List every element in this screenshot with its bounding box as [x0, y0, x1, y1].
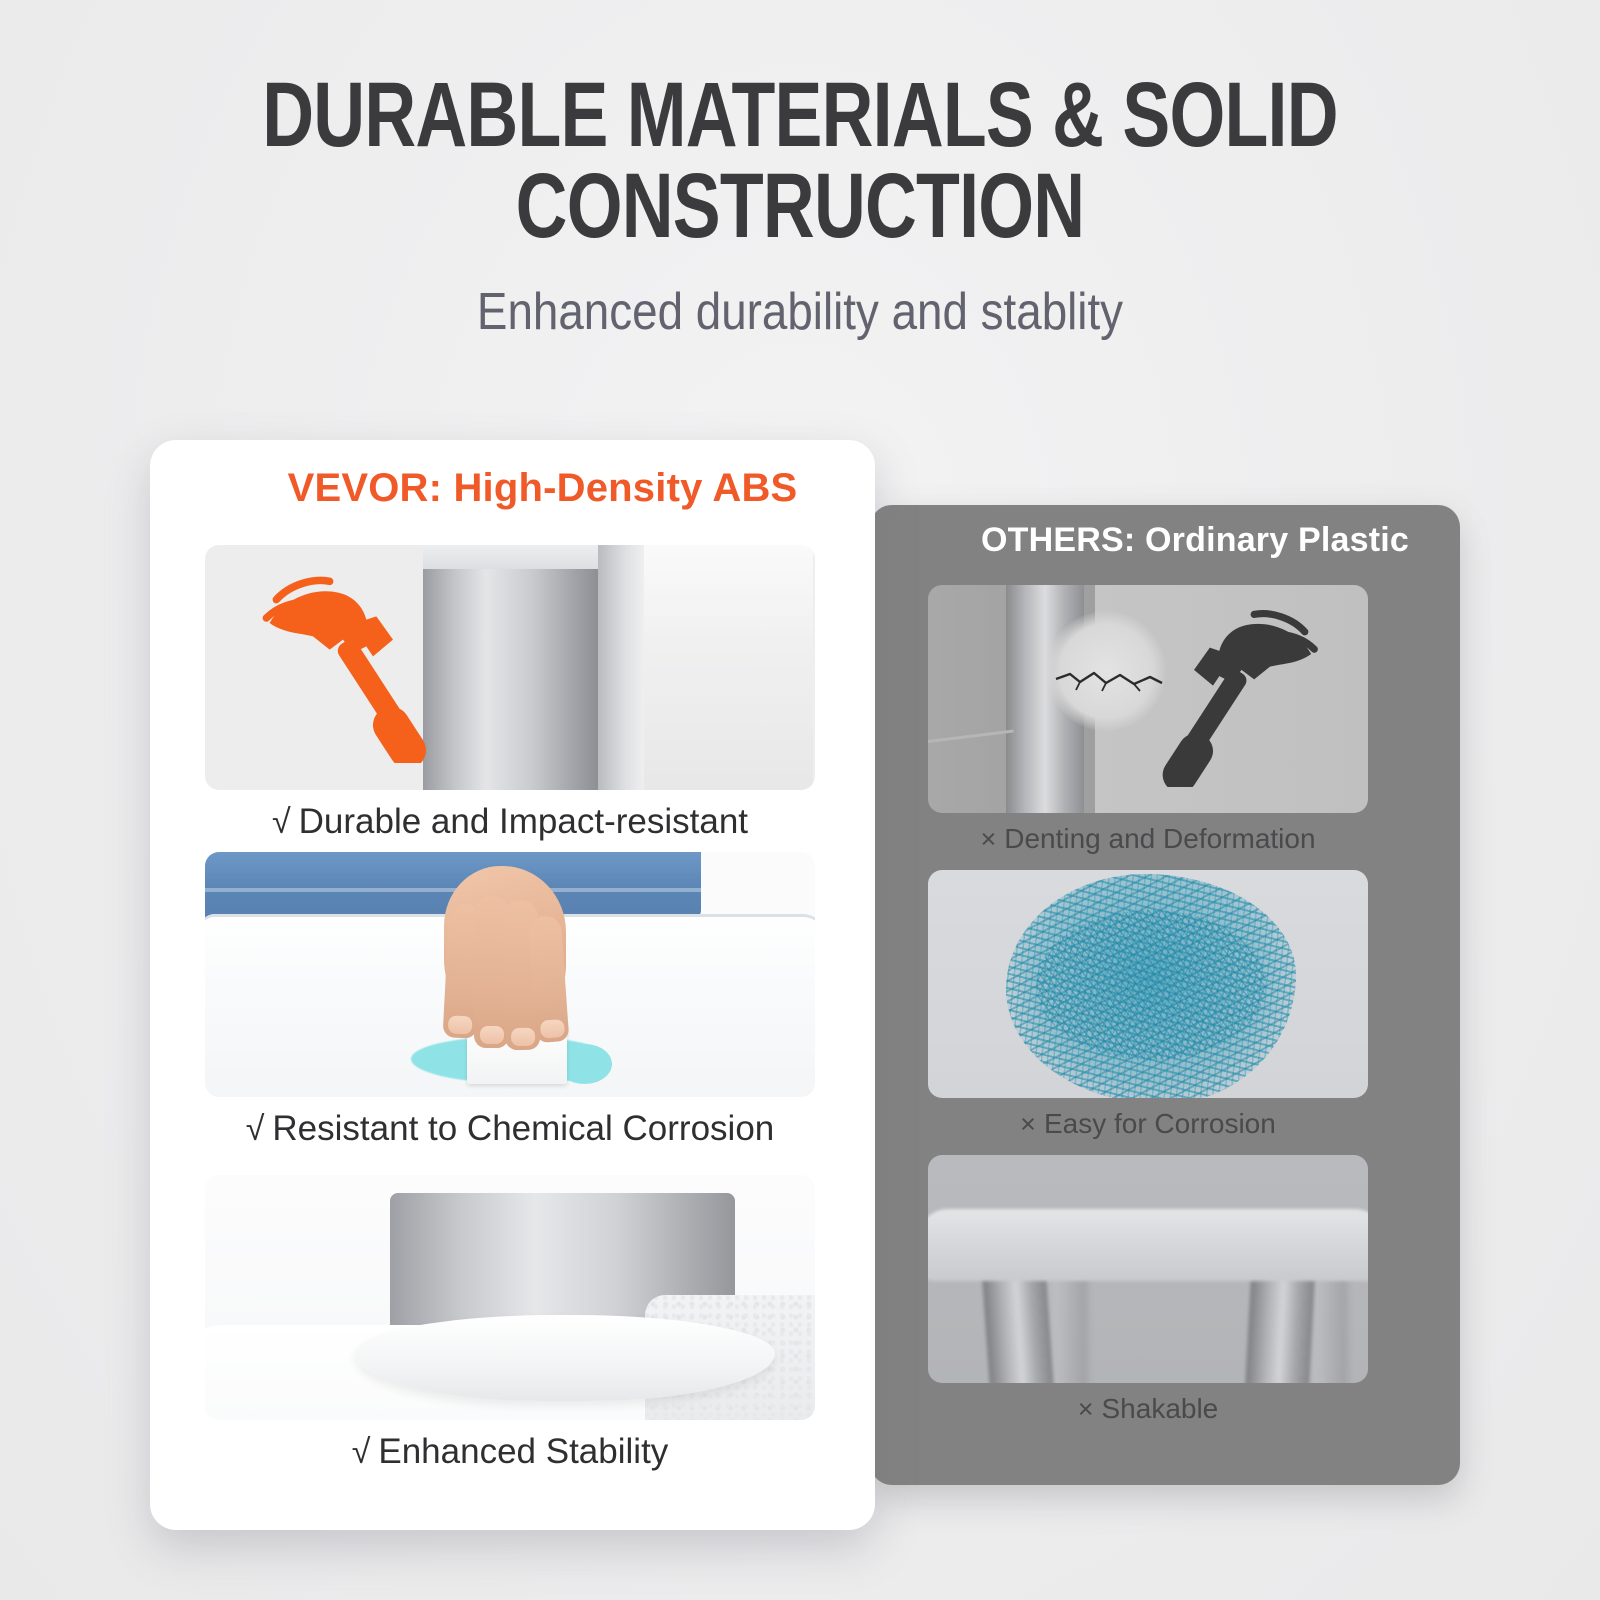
check-mark: √: [272, 803, 291, 841]
stand-top-shape: [928, 1209, 1368, 1281]
vevor-card: VEVOR: High-Density ABS: [150, 440, 875, 1530]
comparison-cards: OTHERS: Ordinary Plastic: [0, 0, 1600, 1600]
hand-wipe-icon: [205, 852, 815, 1097]
product-post-shape: [423, 545, 598, 790]
others-item-corrosion: ×Easy for Corrosion: [928, 870, 1368, 1140]
product-post-top-shape: [423, 545, 598, 569]
vevor-caption-text: Resistant to Chemical Corrosion: [272, 1109, 774, 1148]
leg-collar-shape: [355, 1315, 775, 1401]
check-mark: √: [352, 1433, 371, 1471]
others-caption-corrosion: ×Easy for Corrosion: [928, 1108, 1368, 1140]
vevor-item-impact: √Durable and Impact-resistant: [205, 545, 815, 842]
vevor-caption-impact: √Durable and Impact-resistant: [205, 802, 815, 842]
leg-base-icon: [205, 1175, 815, 1420]
vevor-caption-stability: √Enhanced Stability: [205, 1432, 815, 1472]
stand-leg-left: [982, 1273, 1054, 1383]
others-caption-denting: ×Denting and Deformation: [928, 823, 1368, 855]
others-caption-text: Denting and Deformation: [1004, 823, 1315, 854]
hammer-icon-photo: [205, 545, 815, 790]
fingernail-shape: [511, 1028, 535, 1046]
others-caption-text: Shakable: [1102, 1393, 1219, 1424]
others-card: OTHERS: Ordinary Plastic: [870, 505, 1460, 1485]
vevor-item-chemical: √Resistant to Chemical Corrosion: [205, 852, 815, 1149]
fingernail-shape: [480, 1026, 504, 1044]
corrosion-stain-icon: [928, 870, 1368, 1098]
others-caption-shakable: ×Shakable: [928, 1393, 1368, 1425]
vevor-card-heading: VEVOR: High-Density ABS: [150, 466, 875, 511]
infographic-page: DURABLE MATERIALS & SOLID CONSTRUCTION E…: [0, 0, 1600, 1600]
others-card-heading: OTHERS: Ordinary Plastic: [870, 521, 1460, 560]
vevor-caption-text: Enhanced Stability: [378, 1432, 668, 1471]
cross-mark: ×: [980, 824, 996, 854]
stand-leg-right: [1245, 1273, 1315, 1383]
vevor-caption-chemical: √Resistant to Chemical Corrosion: [205, 1109, 815, 1149]
hammer-crack-icon: [928, 585, 1368, 813]
crack-icon: [1054, 663, 1164, 693]
fingernail-shape: [540, 1019, 565, 1039]
check-mark: √: [246, 1110, 265, 1148]
hand-shape: [420, 860, 580, 1075]
hammer-icon-dark: [1156, 597, 1346, 787]
cross-mark: ×: [1020, 1109, 1036, 1139]
others-item-shakable: ×Shakable: [928, 1155, 1368, 1425]
floor-line-shape: [928, 730, 1014, 744]
others-item-denting: ×Denting and Deformation: [928, 585, 1368, 855]
fingernail-shape: [448, 1015, 473, 1034]
cross-mark: ×: [1078, 1394, 1094, 1424]
corrosion-blob-core-shape: [1036, 910, 1266, 1060]
product-body-shape: [598, 545, 813, 790]
hammer-icon: [233, 563, 433, 763]
wobbly-stand-icon: [928, 1155, 1368, 1383]
vevor-caption-text: Durable and Impact-resistant: [299, 802, 748, 841]
others-caption-text: Easy for Corrosion: [1044, 1108, 1276, 1139]
vevor-item-stability: √Enhanced Stability: [205, 1175, 815, 1472]
